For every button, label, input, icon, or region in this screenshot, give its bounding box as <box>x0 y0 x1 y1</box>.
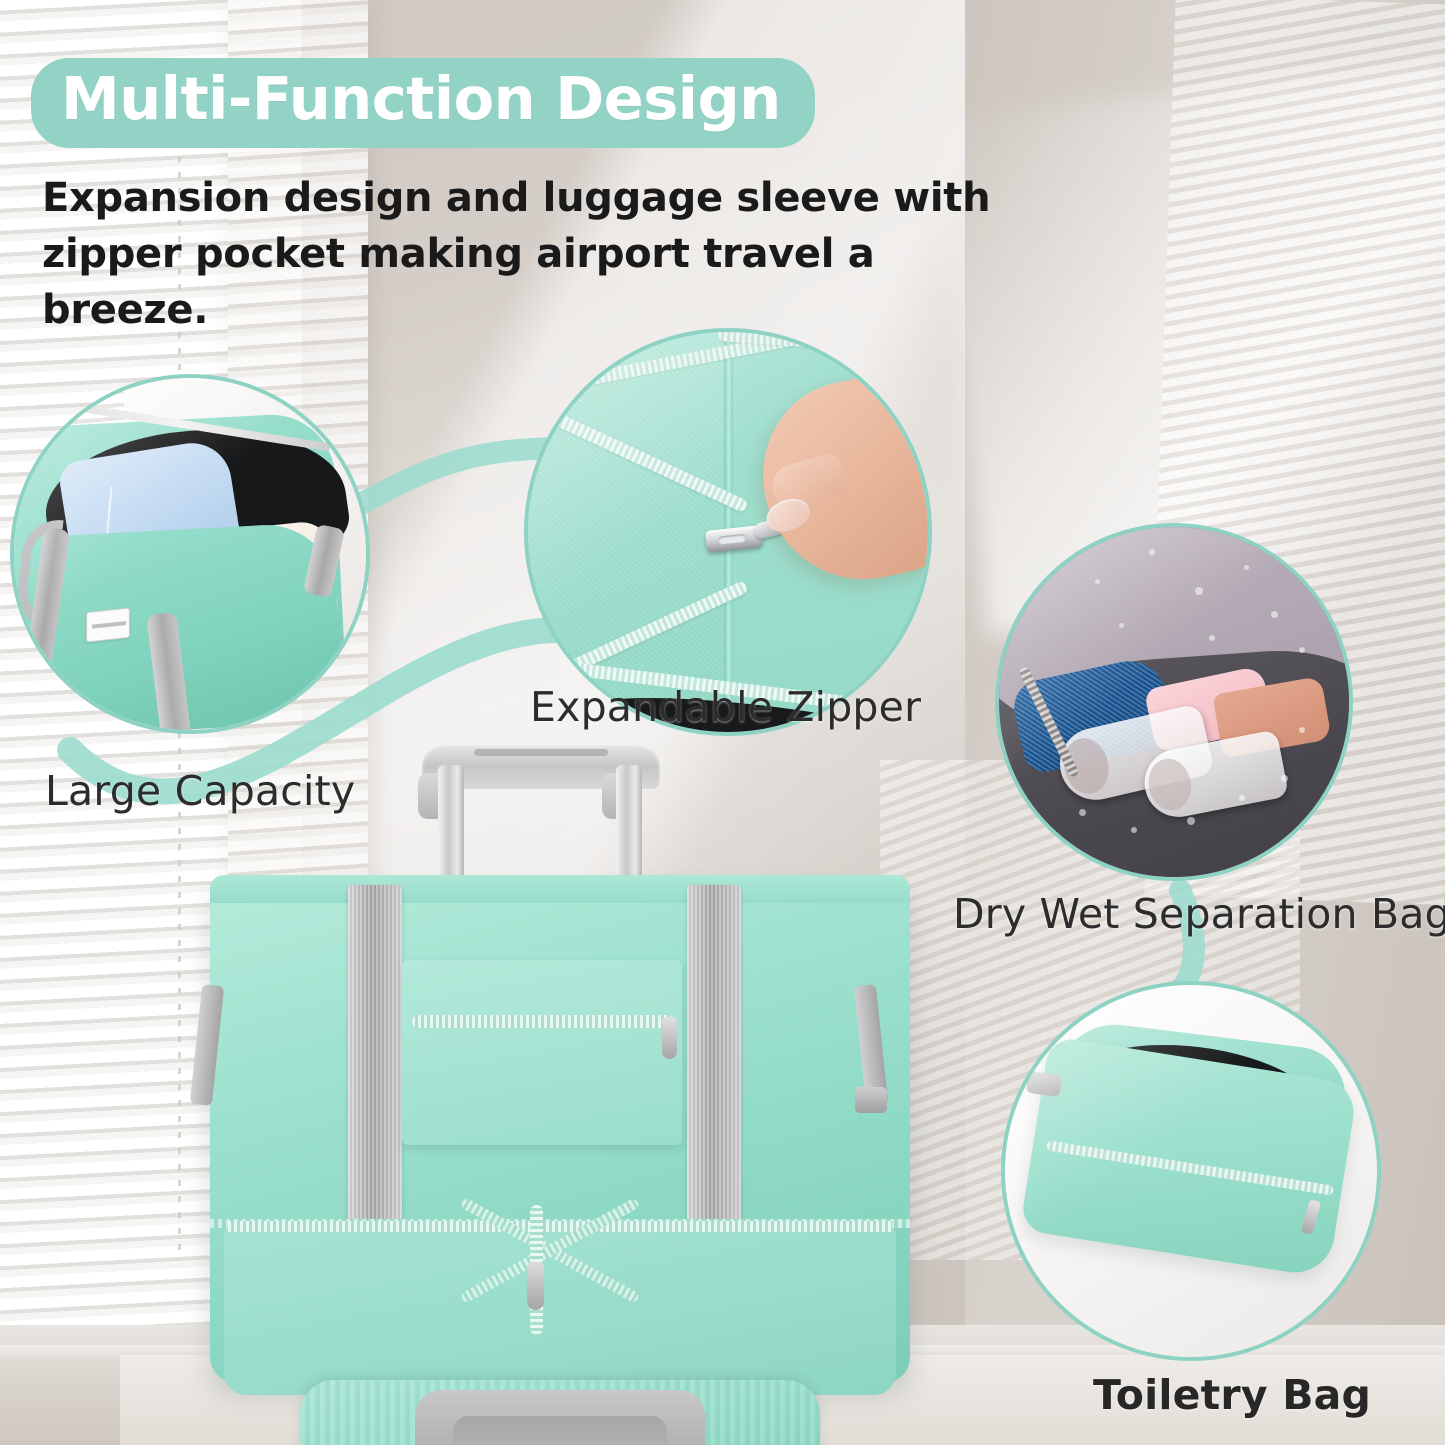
brand-label-patch <box>86 608 130 643</box>
pouch-side-tab <box>1026 1071 1063 1098</box>
carry-strap-left <box>348 885 402 1230</box>
luggage-sleeve-cross-straps <box>450 1185 640 1335</box>
callout-circle-dry-wet-separation <box>999 527 1349 877</box>
page-title-badge: Multi-Function Design <box>31 58 815 148</box>
center-zipper-pull <box>527 1262 544 1310</box>
front-pocket-zipper <box>412 1015 674 1028</box>
callout-circle-large-capacity <box>14 378 366 730</box>
subtitle-line-1: Expansion design and luggage sleeve with <box>42 170 1042 226</box>
callout-label-large-capacity: Large Capacity <box>45 767 355 815</box>
callout-label-dry-wet-separation: Dry Wet Separation Bag <box>953 890 1445 938</box>
callout-label-toiletry-bag: Toiletry Bag <box>1093 1371 1371 1419</box>
front-pocket-zipper-pull <box>662 1017 677 1059</box>
page-subtitle: Expansion design and luggage sleeve with… <box>42 170 1042 338</box>
carry-strap-right <box>687 885 741 1230</box>
water-droplets <box>999 527 1349 877</box>
callout-circle-expandable-zipper <box>528 332 928 732</box>
side-buckle <box>855 1087 887 1113</box>
callout-circle-toiletry-bag <box>1005 985 1377 1357</box>
hero-product-duffel-on-suitcase <box>200 735 920 1445</box>
suitcase-handle-recess <box>415 1390 705 1445</box>
callout-label-expandable-zipper: Expandable Zipper <box>530 683 921 731</box>
infographic-canvas: Multi-Function Design Expansion design a… <box>0 0 1445 1445</box>
subtitle-line-2: zipper pocket making airport travel a br… <box>42 226 1042 338</box>
luggage-sleeve-panel <box>402 960 682 1145</box>
duffel-top-edge <box>210 875 910 903</box>
